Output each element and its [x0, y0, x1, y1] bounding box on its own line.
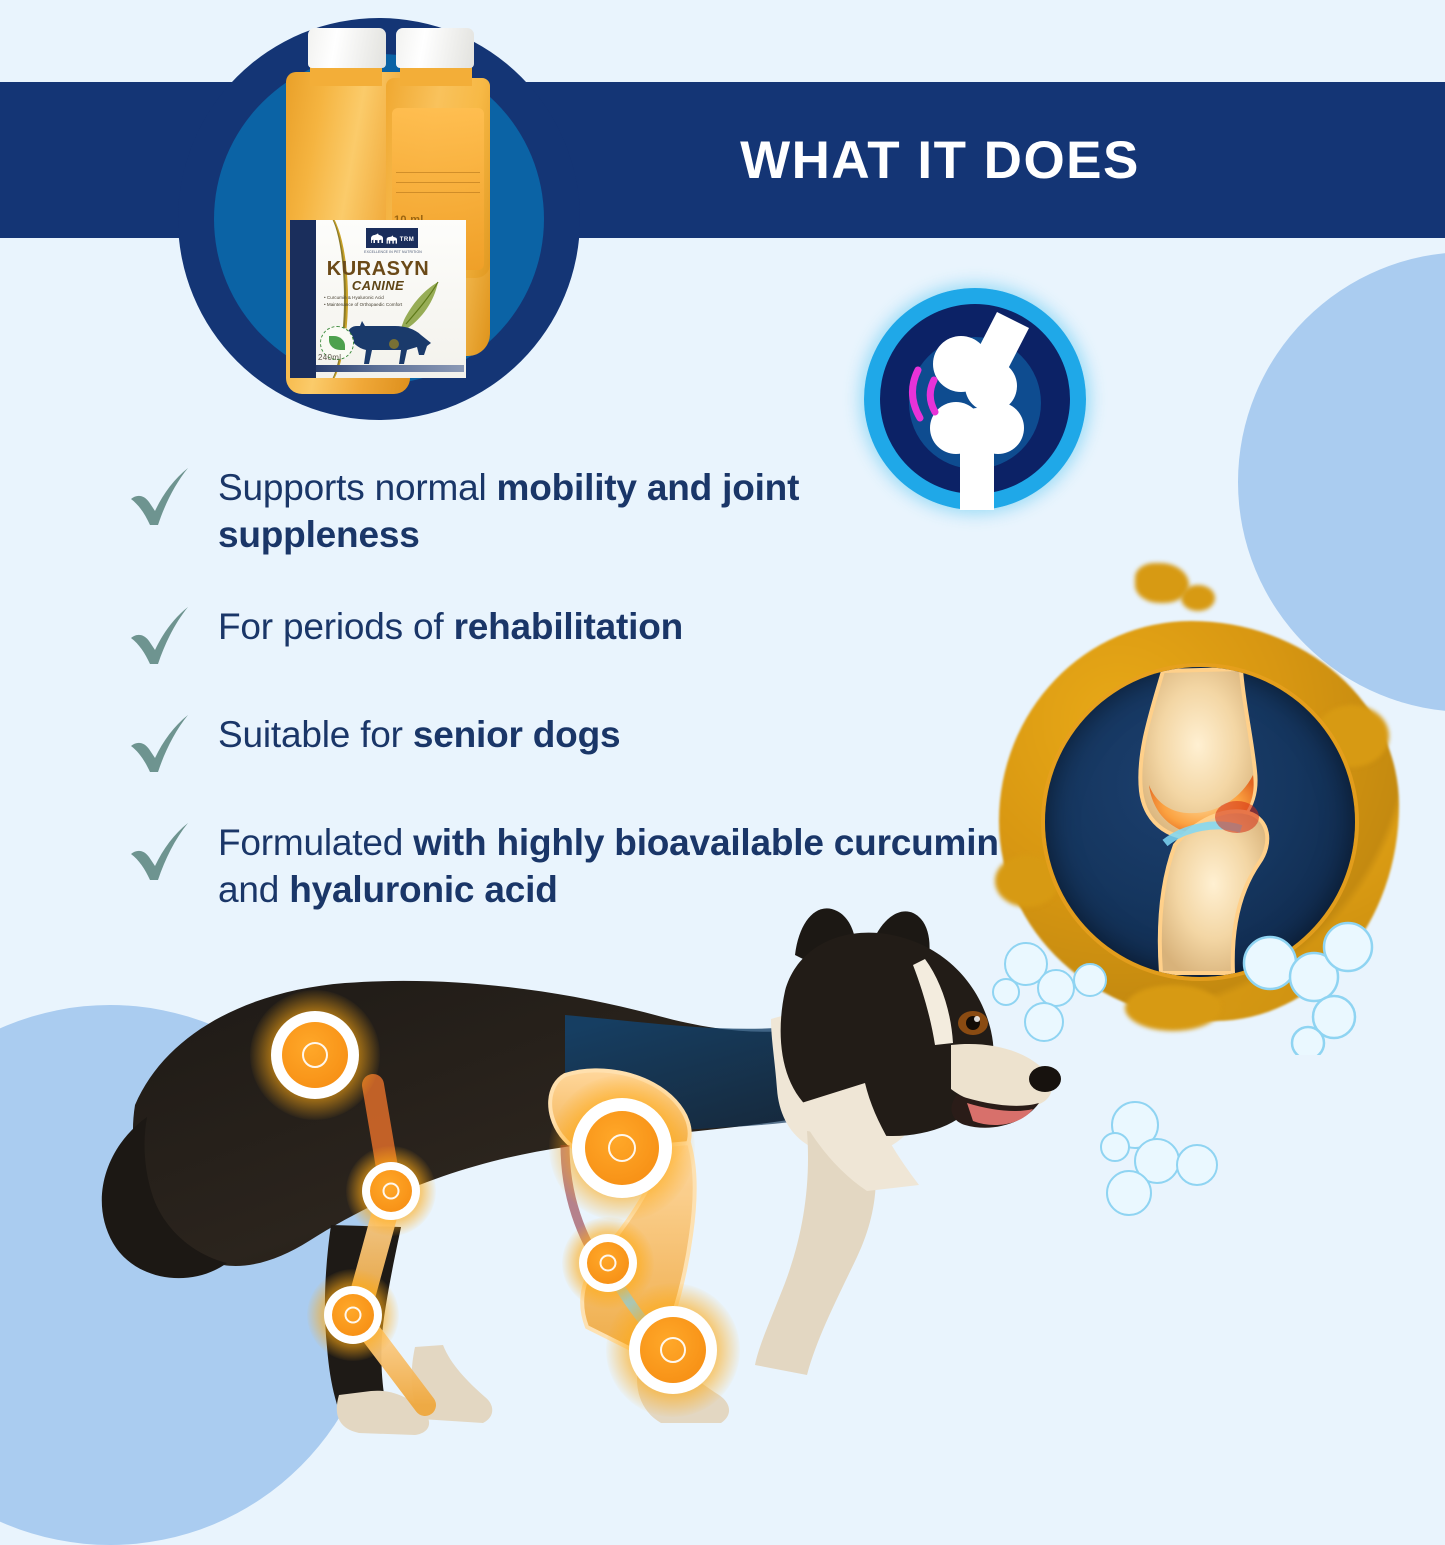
- hyaluronic-acid-molecule-icon: [990, 930, 1120, 1045]
- joint-marker-hock-right: [627, 1304, 719, 1396]
- joint-marker-hip-left: [269, 1009, 361, 1101]
- checkmark-icon: [128, 709, 194, 775]
- benefit-item: For periods of rehabilitation: [128, 601, 1008, 667]
- checkmark-icon: [128, 601, 194, 667]
- bottle-measure-ticks: [396, 172, 480, 208]
- turmeric-speck: [1181, 585, 1215, 611]
- product-volume: 240ml: [318, 353, 341, 362]
- benefit-text: Suitable for senior dogs: [218, 709, 620, 758]
- bottle-cap-left: [308, 28, 386, 68]
- trm-logo-letters: TRM: [400, 237, 415, 243]
- hyaluronic-acid-molecule-icon: [1230, 905, 1385, 1055]
- page-title: WHAT IT DOES: [560, 82, 1320, 238]
- checkmark-icon: [128, 462, 194, 528]
- infographic-canvas: WHAT IT DOES 10 ml: [0, 0, 1445, 1445]
- turmeric-speck: [1125, 985, 1221, 1031]
- hyaluronic-acid-molecule-icon: [1085, 1085, 1230, 1225]
- benefit-text: For periods of rehabilitation: [218, 601, 683, 650]
- bottle-cap-right: [396, 28, 474, 68]
- trm-logo: TRM: [366, 228, 418, 248]
- benefit-item: Formulated with highly bioavailable curc…: [128, 817, 1008, 914]
- trm-logo-tagline: EXCELLENCE IN PET NUTRITION: [352, 250, 434, 254]
- product-bottle: 10 ml TRM EXCELLENCE IN PET N: [268, 20, 500, 402]
- bottle-label: TRM EXCELLENCE IN PET NUTRITION KURASYN …: [290, 220, 466, 378]
- benefit-text: Formulated with highly bioavailable curc…: [218, 817, 1008, 914]
- trm-animal-glyphs: TRM: [370, 233, 415, 244]
- dog-anatomy-photo: [95, 895, 1095, 1445]
- benefits-list: Supports normal mobility and joint suppl…: [128, 462, 1008, 913]
- benefit-item: Supports normal mobility and joint suppl…: [128, 462, 1008, 559]
- benefit-text: Supports normal mobility and joint suppl…: [218, 462, 1008, 559]
- label-bottom-bar: [316, 365, 464, 372]
- certification-leaf-icon: [329, 336, 345, 350]
- joint-marker-hock-left: [322, 1284, 384, 1346]
- label-dog-silhouette: [342, 316, 438, 368]
- benefit-item: Suitable for senior dogs: [128, 709, 1008, 775]
- joint-marker-stifle-left: [360, 1160, 422, 1222]
- checkmark-icon: [128, 817, 194, 883]
- joint-marker-hip-right: [570, 1096, 674, 1200]
- joint-marker-stifle-right: [577, 1232, 639, 1294]
